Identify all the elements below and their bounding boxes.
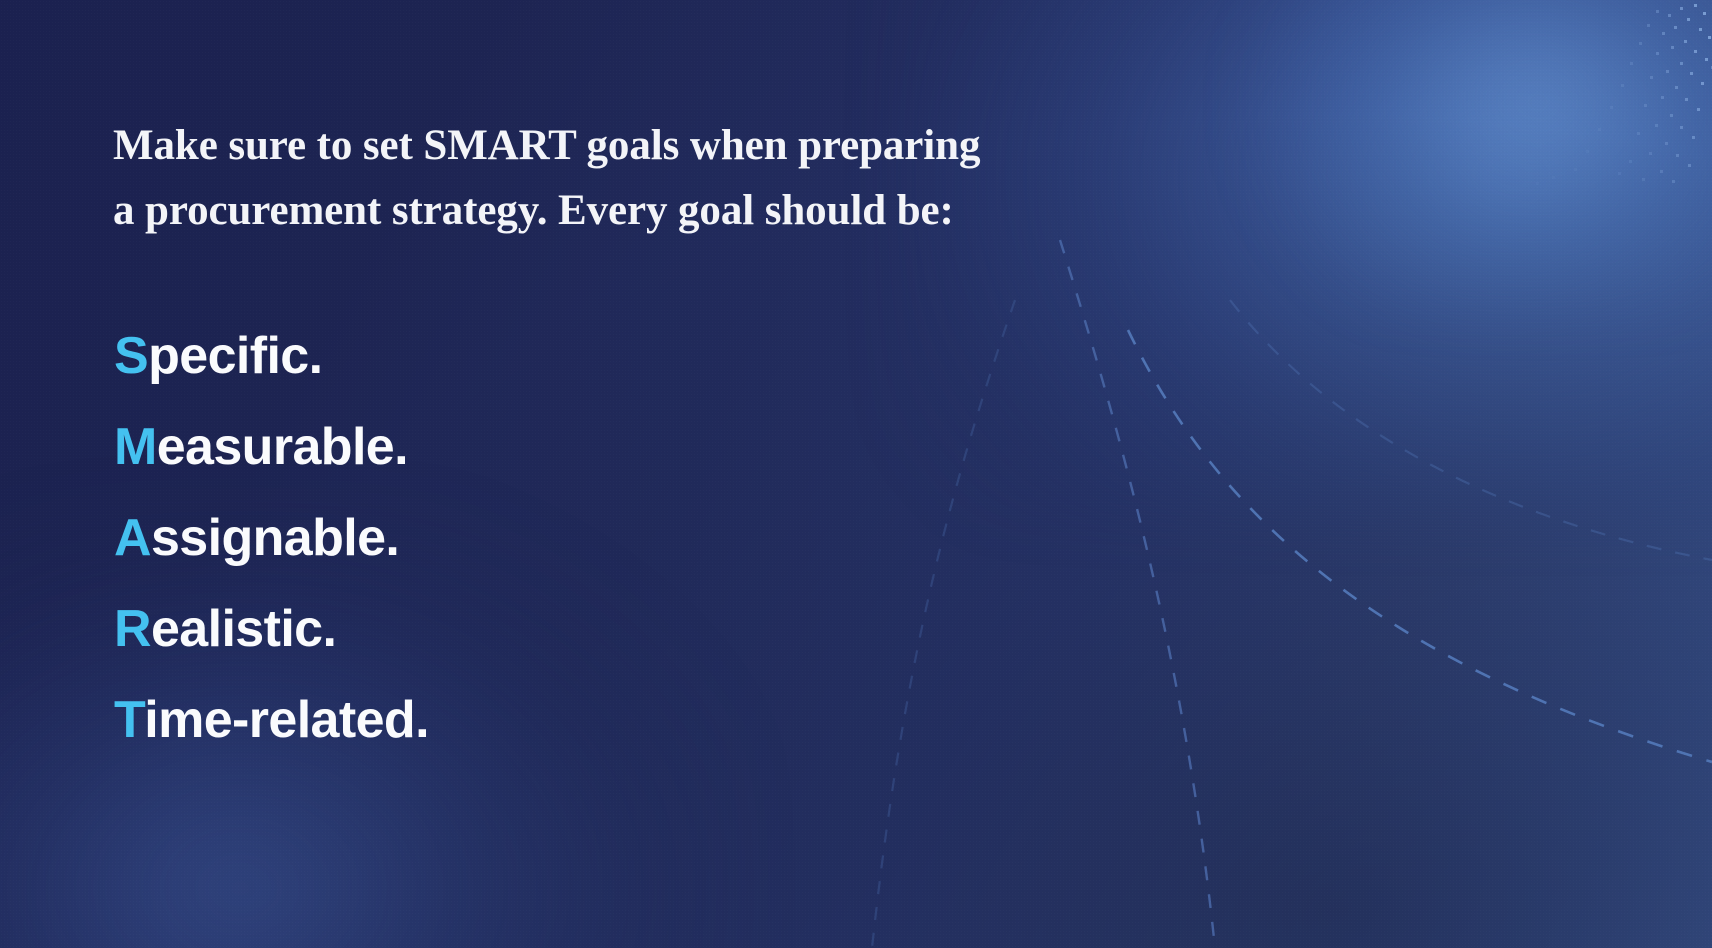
smart-item-text: ime-related.: [144, 691, 429, 749]
smart-initial-letter: S: [114, 327, 148, 385]
slide-headline: Make sure to set SMART goals when prepar…: [113, 113, 1143, 243]
smart-item-text: pecific.: [148, 327, 322, 385]
smart-goals-list: Specific. Measurable. Assignable. Realis…: [114, 311, 429, 766]
slide-canvas: Make sure to set SMART goals when prepar…: [0, 0, 1712, 948]
list-item: Realistic.: [114, 584, 429, 675]
smart-item-text: easurable.: [157, 418, 408, 476]
list-item: Specific.: [114, 311, 429, 402]
smart-item-text: ssignable.: [151, 509, 399, 567]
smart-initial-letter: T: [114, 691, 144, 749]
smart-initial-letter: A: [114, 509, 151, 567]
smart-initial-letter: M: [114, 418, 157, 476]
list-item: Time-related.: [114, 675, 429, 766]
smart-initial-letter: R: [114, 600, 151, 658]
slide-content: Make sure to set SMART goals when prepar…: [113, 0, 1213, 948]
smart-item-text: ealistic.: [151, 600, 336, 658]
list-item: Assignable.: [114, 493, 429, 584]
list-item: Measurable.: [114, 402, 429, 493]
